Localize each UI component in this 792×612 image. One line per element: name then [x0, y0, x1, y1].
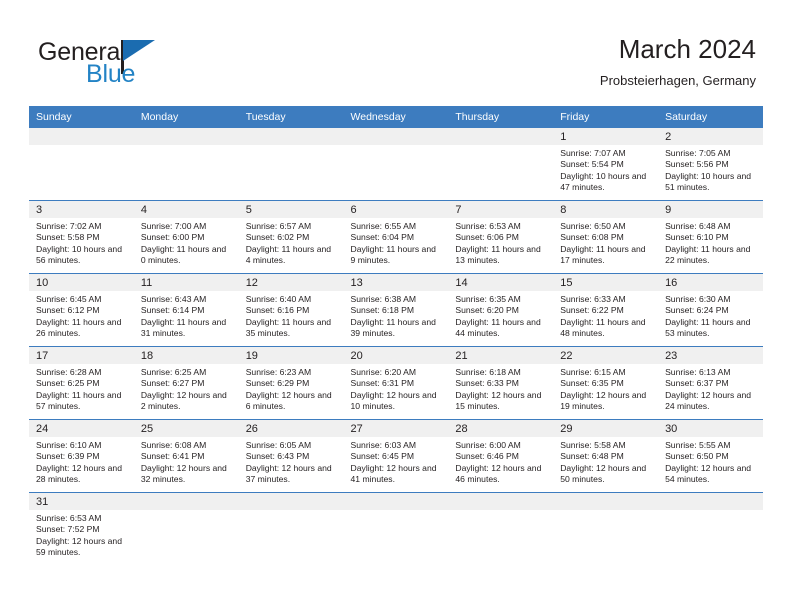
calendar-empty-cell	[134, 493, 239, 566]
daylight-text: Daylight: 11 hours and 39 minutes.	[351, 317, 443, 340]
calendar-day-cell[interactable]: 30Sunrise: 5:55 AMSunset: 6:50 PMDayligh…	[658, 420, 763, 493]
daylight-text: Daylight: 10 hours and 56 minutes.	[36, 244, 128, 267]
calendar-week-row: 1Sunrise: 7:07 AMSunset: 5:54 PMDaylight…	[29, 128, 763, 201]
day-number: 18	[134, 347, 239, 364]
calendar-day-cell[interactable]: 8Sunrise: 6:50 AMSunset: 6:08 PMDaylight…	[553, 201, 658, 274]
day-details: Sunrise: 7:00 AMSunset: 6:00 PMDaylight:…	[134, 218, 239, 267]
calendar-day-cell[interactable]: 28Sunrise: 6:00 AMSunset: 6:46 PMDayligh…	[448, 420, 553, 493]
calendar-empty-cell	[553, 493, 658, 566]
calendar-day-cell[interactable]: 4Sunrise: 7:00 AMSunset: 6:00 PMDaylight…	[134, 201, 239, 274]
day-number	[239, 128, 344, 145]
daylight-text: Daylight: 11 hours and 13 minutes.	[455, 244, 547, 267]
day-cell-content	[344, 493, 449, 565]
calendar-week-row: 3Sunrise: 7:02 AMSunset: 5:58 PMDaylight…	[29, 201, 763, 274]
sunset-text: Sunset: 7:52 PM	[36, 524, 128, 535]
daylight-text: Daylight: 11 hours and 17 minutes.	[560, 244, 652, 267]
day-cell-content	[134, 493, 239, 565]
calendar-week-row: 10Sunrise: 6:45 AMSunset: 6:12 PMDayligh…	[29, 274, 763, 347]
day-number	[448, 493, 553, 510]
day-number	[344, 128, 449, 145]
sunrise-text: Sunrise: 6:23 AM	[246, 367, 338, 378]
day-cell-content: 11Sunrise: 6:43 AMSunset: 6:14 PMDayligh…	[134, 274, 239, 346]
day-details: Sunrise: 6:15 AMSunset: 6:35 PMDaylight:…	[553, 364, 658, 413]
daylight-text: Daylight: 11 hours and 48 minutes.	[560, 317, 652, 340]
sunset-text: Sunset: 6:33 PM	[455, 378, 547, 389]
day-number: 28	[448, 420, 553, 437]
day-details: Sunrise: 6:05 AMSunset: 6:43 PMDaylight:…	[239, 437, 344, 486]
day-cell-content: 1Sunrise: 7:07 AMSunset: 5:54 PMDaylight…	[553, 128, 658, 200]
calendar-week-row: 31Sunrise: 6:53 AMSunset: 7:52 PMDayligh…	[29, 493, 763, 566]
sunset-text: Sunset: 6:46 PM	[455, 451, 547, 462]
day-number	[134, 493, 239, 510]
day-number	[658, 493, 763, 510]
day-cell-content: 13Sunrise: 6:38 AMSunset: 6:18 PMDayligh…	[344, 274, 449, 346]
calendar-day-cell[interactable]: 22Sunrise: 6:15 AMSunset: 6:35 PMDayligh…	[553, 347, 658, 420]
sunrise-text: Sunrise: 6:45 AM	[36, 294, 128, 305]
day-details: Sunrise: 5:58 AMSunset: 6:48 PMDaylight:…	[553, 437, 658, 486]
day-cell-content: 28Sunrise: 6:00 AMSunset: 6:46 PMDayligh…	[448, 420, 553, 492]
calendar-empty-cell	[344, 493, 449, 566]
day-details: Sunrise: 6:23 AMSunset: 6:29 PMDaylight:…	[239, 364, 344, 413]
day-number	[553, 493, 658, 510]
calendar-empty-cell	[239, 493, 344, 566]
sunrise-text: Sunrise: 6:43 AM	[141, 294, 233, 305]
calendar-day-cell[interactable]: 23Sunrise: 6:13 AMSunset: 6:37 PMDayligh…	[658, 347, 763, 420]
day-cell-content: 23Sunrise: 6:13 AMSunset: 6:37 PMDayligh…	[658, 347, 763, 419]
sunrise-text: Sunrise: 5:55 AM	[665, 440, 757, 451]
day-cell-content: 2Sunrise: 7:05 AMSunset: 5:56 PMDaylight…	[658, 128, 763, 200]
daylight-text: Daylight: 12 hours and 50 minutes.	[560, 463, 652, 486]
daylight-text: Daylight: 11 hours and 0 minutes.	[141, 244, 233, 267]
sunrise-text: Sunrise: 7:02 AM	[36, 221, 128, 232]
sunset-text: Sunset: 5:54 PM	[560, 159, 652, 170]
page-header: General Blue March 2024 Probsteierhagen,…	[0, 0, 792, 103]
calendar-table: Sunday Monday Tuesday Wednesday Thursday…	[29, 106, 763, 565]
day-number	[134, 128, 239, 145]
day-cell-content: 31Sunrise: 6:53 AMSunset: 7:52 PMDayligh…	[29, 493, 134, 565]
day-details: Sunrise: 6:20 AMSunset: 6:31 PMDaylight:…	[344, 364, 449, 413]
sunrise-text: Sunrise: 6:50 AM	[560, 221, 652, 232]
day-number: 2	[658, 128, 763, 145]
sunset-text: Sunset: 6:04 PM	[351, 232, 443, 243]
day-details: Sunrise: 6:00 AMSunset: 6:46 PMDaylight:…	[448, 437, 553, 486]
day-details: Sunrise: 6:13 AMSunset: 6:37 PMDaylight:…	[658, 364, 763, 413]
calendar-empty-cell	[134, 128, 239, 201]
calendar-empty-cell	[448, 128, 553, 201]
day-cell-content: 22Sunrise: 6:15 AMSunset: 6:35 PMDayligh…	[553, 347, 658, 419]
daylight-text: Daylight: 12 hours and 32 minutes.	[141, 463, 233, 486]
day-number: 19	[239, 347, 344, 364]
day-details: Sunrise: 6:45 AMSunset: 6:12 PMDaylight:…	[29, 291, 134, 340]
day-cell-content: 26Sunrise: 6:05 AMSunset: 6:43 PMDayligh…	[239, 420, 344, 492]
sunset-text: Sunset: 6:37 PM	[665, 378, 757, 389]
day-details: Sunrise: 6:48 AMSunset: 6:10 PMDaylight:…	[658, 218, 763, 267]
day-details: Sunrise: 7:07 AMSunset: 5:54 PMDaylight:…	[553, 145, 658, 194]
day-number: 25	[134, 420, 239, 437]
column-header-friday: Friday	[553, 106, 658, 128]
sunrise-text: Sunrise: 6:35 AM	[455, 294, 547, 305]
day-number: 20	[344, 347, 449, 364]
day-number: 13	[344, 274, 449, 291]
day-number: 26	[239, 420, 344, 437]
day-details: Sunrise: 6:35 AMSunset: 6:20 PMDaylight:…	[448, 291, 553, 340]
sunrise-text: Sunrise: 6:55 AM	[351, 221, 443, 232]
sunrise-text: Sunrise: 6:25 AM	[141, 367, 233, 378]
sunset-text: Sunset: 6:00 PM	[141, 232, 233, 243]
sunset-text: Sunset: 6:41 PM	[141, 451, 233, 462]
column-header-sunday: Sunday	[29, 106, 134, 128]
sunset-text: Sunset: 6:12 PM	[36, 305, 128, 316]
day-cell-content	[448, 128, 553, 200]
daylight-text: Daylight: 12 hours and 37 minutes.	[246, 463, 338, 486]
sunrise-text: Sunrise: 6:38 AM	[351, 294, 443, 305]
day-number: 31	[29, 493, 134, 510]
sunrise-text: Sunrise: 6:20 AM	[351, 367, 443, 378]
sunset-text: Sunset: 6:45 PM	[351, 451, 443, 462]
logo-text-blue: Blue	[86, 60, 135, 89]
calendar-day-cell[interactable]: 14Sunrise: 6:35 AMSunset: 6:20 PMDayligh…	[448, 274, 553, 347]
daylight-text: Daylight: 11 hours and 53 minutes.	[665, 317, 757, 340]
day-cell-content	[29, 128, 134, 200]
sunrise-text: Sunrise: 7:07 AM	[560, 148, 652, 159]
day-cell-content: 16Sunrise: 6:30 AMSunset: 6:24 PMDayligh…	[658, 274, 763, 346]
daylight-text: Daylight: 12 hours and 46 minutes.	[455, 463, 547, 486]
day-details: Sunrise: 6:25 AMSunset: 6:27 PMDaylight:…	[134, 364, 239, 413]
daylight-text: Daylight: 12 hours and 6 minutes.	[246, 390, 338, 413]
daylight-text: Daylight: 11 hours and 44 minutes.	[455, 317, 547, 340]
day-number: 12	[239, 274, 344, 291]
calendar-header-row: Sunday Monday Tuesday Wednesday Thursday…	[29, 106, 763, 128]
daylight-text: Daylight: 11 hours and 35 minutes.	[246, 317, 338, 340]
sunrise-text: Sunrise: 6:30 AM	[665, 294, 757, 305]
day-details: Sunrise: 6:08 AMSunset: 6:41 PMDaylight:…	[134, 437, 239, 486]
day-details: Sunrise: 6:57 AMSunset: 6:02 PMDaylight:…	[239, 218, 344, 267]
sunrise-text: Sunrise: 6:03 AM	[351, 440, 443, 451]
day-cell-content: 15Sunrise: 6:33 AMSunset: 6:22 PMDayligh…	[553, 274, 658, 346]
daylight-text: Daylight: 12 hours and 28 minutes.	[36, 463, 128, 486]
logo-flag-icon	[123, 40, 155, 61]
calendar-day-cell[interactable]: 20Sunrise: 6:20 AMSunset: 6:31 PMDayligh…	[344, 347, 449, 420]
day-number: 23	[658, 347, 763, 364]
day-cell-content: 5Sunrise: 6:57 AMSunset: 6:02 PMDaylight…	[239, 201, 344, 273]
day-details: Sunrise: 6:43 AMSunset: 6:14 PMDaylight:…	[134, 291, 239, 340]
day-number: 7	[448, 201, 553, 218]
calendar-empty-cell	[29, 128, 134, 201]
calendar-empty-cell	[239, 128, 344, 201]
daylight-text: Daylight: 11 hours and 57 minutes.	[36, 390, 128, 413]
day-details: Sunrise: 6:53 AMSunset: 6:06 PMDaylight:…	[448, 218, 553, 267]
sunrise-text: Sunrise: 6:08 AM	[141, 440, 233, 451]
day-details: Sunrise: 6:50 AMSunset: 6:08 PMDaylight:…	[553, 218, 658, 267]
daylight-text: Daylight: 11 hours and 22 minutes.	[665, 244, 757, 267]
sunrise-text: Sunrise: 6:13 AM	[665, 367, 757, 378]
sunrise-text: Sunrise: 6:53 AM	[455, 221, 547, 232]
sunrise-text: Sunrise: 6:00 AM	[455, 440, 547, 451]
calendar-day-cell[interactable]: 7Sunrise: 6:53 AMSunset: 6:06 PMDaylight…	[448, 201, 553, 274]
sunrise-text: Sunrise: 6:57 AM	[246, 221, 338, 232]
day-cell-content: 25Sunrise: 6:08 AMSunset: 6:41 PMDayligh…	[134, 420, 239, 492]
day-number: 1	[553, 128, 658, 145]
day-number: 6	[344, 201, 449, 218]
day-cell-content: 8Sunrise: 6:50 AMSunset: 6:08 PMDaylight…	[553, 201, 658, 273]
day-details: Sunrise: 6:30 AMSunset: 6:24 PMDaylight:…	[658, 291, 763, 340]
day-cell-content: 18Sunrise: 6:25 AMSunset: 6:27 PMDayligh…	[134, 347, 239, 419]
day-cell-content: 4Sunrise: 7:00 AMSunset: 6:00 PMDaylight…	[134, 201, 239, 273]
day-details: Sunrise: 6:03 AMSunset: 6:45 PMDaylight:…	[344, 437, 449, 486]
sunset-text: Sunset: 6:48 PM	[560, 451, 652, 462]
sunrise-text: Sunrise: 7:05 AM	[665, 148, 757, 159]
column-header-saturday: Saturday	[658, 106, 763, 128]
calendar-day-cell[interactable]: 27Sunrise: 6:03 AMSunset: 6:45 PMDayligh…	[344, 420, 449, 493]
day-details: Sunrise: 6:10 AMSunset: 6:39 PMDaylight:…	[29, 437, 134, 486]
daylight-text: Daylight: 12 hours and 2 minutes.	[141, 390, 233, 413]
sunset-text: Sunset: 6:24 PM	[665, 305, 757, 316]
day-details: Sunrise: 7:02 AMSunset: 5:58 PMDaylight:…	[29, 218, 134, 267]
calendar-empty-cell	[448, 493, 553, 566]
day-details: Sunrise: 5:55 AMSunset: 6:50 PMDaylight:…	[658, 437, 763, 486]
day-number: 16	[658, 274, 763, 291]
day-cell-content: 29Sunrise: 5:58 AMSunset: 6:48 PMDayligh…	[553, 420, 658, 492]
daylight-text: Daylight: 12 hours and 41 minutes.	[351, 463, 443, 486]
day-number: 8	[553, 201, 658, 218]
daylight-text: Daylight: 12 hours and 54 minutes.	[665, 463, 757, 486]
sunset-text: Sunset: 6:16 PM	[246, 305, 338, 316]
sunset-text: Sunset: 6:27 PM	[141, 378, 233, 389]
sunset-text: Sunset: 6:14 PM	[141, 305, 233, 316]
sunset-text: Sunset: 6:06 PM	[455, 232, 547, 243]
sunset-text: Sunset: 6:25 PM	[36, 378, 128, 389]
column-header-thursday: Thursday	[448, 106, 553, 128]
day-number: 10	[29, 274, 134, 291]
day-cell-content: 21Sunrise: 6:18 AMSunset: 6:33 PMDayligh…	[448, 347, 553, 419]
day-cell-content: 30Sunrise: 5:55 AMSunset: 6:50 PMDayligh…	[658, 420, 763, 492]
day-number: 5	[239, 201, 344, 218]
daylight-text: Daylight: 11 hours and 31 minutes.	[141, 317, 233, 340]
calendar-week-row: 17Sunrise: 6:28 AMSunset: 6:25 PMDayligh…	[29, 347, 763, 420]
day-number: 14	[448, 274, 553, 291]
daylight-text: Daylight: 12 hours and 24 minutes.	[665, 390, 757, 413]
sunset-text: Sunset: 6:10 PM	[665, 232, 757, 243]
calendar-day-cell[interactable]: 15Sunrise: 6:33 AMSunset: 6:22 PMDayligh…	[553, 274, 658, 347]
day-number: 21	[448, 347, 553, 364]
day-cell-content	[553, 493, 658, 565]
day-number	[29, 128, 134, 145]
sunset-text: Sunset: 6:43 PM	[246, 451, 338, 462]
day-number: 15	[553, 274, 658, 291]
calendar-day-cell[interactable]: 9Sunrise: 6:48 AMSunset: 6:10 PMDaylight…	[658, 201, 763, 274]
day-details: Sunrise: 6:18 AMSunset: 6:33 PMDaylight:…	[448, 364, 553, 413]
sunset-text: Sunset: 6:02 PM	[246, 232, 338, 243]
sunset-text: Sunset: 5:56 PM	[665, 159, 757, 170]
calendar-day-cell[interactable]: 29Sunrise: 5:58 AMSunset: 6:48 PMDayligh…	[553, 420, 658, 493]
sunrise-text: Sunrise: 6:15 AM	[560, 367, 652, 378]
sunset-text: Sunset: 6:50 PM	[665, 451, 757, 462]
sunset-text: Sunset: 6:18 PM	[351, 305, 443, 316]
sunrise-text: Sunrise: 6:40 AM	[246, 294, 338, 305]
sunrise-text: Sunrise: 6:53 AM	[36, 513, 128, 524]
day-cell-content: 19Sunrise: 6:23 AMSunset: 6:29 PMDayligh…	[239, 347, 344, 419]
day-cell-content: 9Sunrise: 6:48 AMSunset: 6:10 PMDaylight…	[658, 201, 763, 273]
day-cell-content: 20Sunrise: 6:20 AMSunset: 6:31 PMDayligh…	[344, 347, 449, 419]
day-cell-content: 3Sunrise: 7:02 AMSunset: 5:58 PMDaylight…	[29, 201, 134, 273]
day-cell-content: 17Sunrise: 6:28 AMSunset: 6:25 PMDayligh…	[29, 347, 134, 419]
calendar-week-row: 24Sunrise: 6:10 AMSunset: 6:39 PMDayligh…	[29, 420, 763, 493]
calendar-day-cell[interactable]: 25Sunrise: 6:08 AMSunset: 6:41 PMDayligh…	[134, 420, 239, 493]
day-number: 22	[553, 347, 658, 364]
sunrise-text: Sunrise: 7:00 AM	[141, 221, 233, 232]
day-number: 29	[553, 420, 658, 437]
calendar-day-cell[interactable]: 13Sunrise: 6:38 AMSunset: 6:18 PMDayligh…	[344, 274, 449, 347]
calendar-day-cell[interactable]: 17Sunrise: 6:28 AMSunset: 6:25 PMDayligh…	[29, 347, 134, 420]
day-number: 11	[134, 274, 239, 291]
sunrise-text: Sunrise: 5:58 AM	[560, 440, 652, 451]
day-cell-content	[239, 128, 344, 200]
general-blue-logo[interactable]: General Blue	[38, 38, 228, 90]
calendar-page: General Blue March 2024 Probsteierhagen,…	[0, 0, 792, 612]
sunrise-text: Sunrise: 6:18 AM	[455, 367, 547, 378]
calendar-day-cell[interactable]: 6Sunrise: 6:55 AMSunset: 6:04 PMDaylight…	[344, 201, 449, 274]
column-header-wednesday: Wednesday	[344, 106, 449, 128]
daylight-text: Daylight: 10 hours and 51 minutes.	[665, 171, 757, 194]
daylight-text: Daylight: 12 hours and 10 minutes.	[351, 390, 443, 413]
day-details: Sunrise: 6:38 AMSunset: 6:18 PMDaylight:…	[344, 291, 449, 340]
day-details: Sunrise: 6:40 AMSunset: 6:16 PMDaylight:…	[239, 291, 344, 340]
calendar-day-cell[interactable]: 5Sunrise: 6:57 AMSunset: 6:02 PMDaylight…	[239, 201, 344, 274]
day-cell-content	[344, 128, 449, 200]
calendar-body: 1Sunrise: 7:07 AMSunset: 5:54 PMDaylight…	[29, 128, 763, 565]
daylight-text: Daylight: 12 hours and 59 minutes.	[36, 536, 128, 559]
sunset-text: Sunset: 6:29 PM	[246, 378, 338, 389]
sunset-text: Sunset: 6:39 PM	[36, 451, 128, 462]
day-cell-content: 14Sunrise: 6:35 AMSunset: 6:20 PMDayligh…	[448, 274, 553, 346]
day-cell-content	[134, 128, 239, 200]
day-number: 27	[344, 420, 449, 437]
day-details: Sunrise: 6:28 AMSunset: 6:25 PMDaylight:…	[29, 364, 134, 413]
sunrise-text: Sunrise: 6:33 AM	[560, 294, 652, 305]
day-number: 4	[134, 201, 239, 218]
day-number: 9	[658, 201, 763, 218]
daylight-text: Daylight: 10 hours and 47 minutes.	[560, 171, 652, 194]
calendar-day-cell[interactable]: 19Sunrise: 6:23 AMSunset: 6:29 PMDayligh…	[239, 347, 344, 420]
sunrise-text: Sunrise: 6:10 AM	[36, 440, 128, 451]
day-details: Sunrise: 7:05 AMSunset: 5:56 PMDaylight:…	[658, 145, 763, 194]
calendar-day-cell[interactable]: 26Sunrise: 6:05 AMSunset: 6:43 PMDayligh…	[239, 420, 344, 493]
sunset-text: Sunset: 6:31 PM	[351, 378, 443, 389]
daylight-text: Daylight: 11 hours and 26 minutes.	[36, 317, 128, 340]
day-cell-content: 7Sunrise: 6:53 AMSunset: 6:06 PMDaylight…	[448, 201, 553, 273]
daylight-text: Daylight: 12 hours and 19 minutes.	[560, 390, 652, 413]
calendar-empty-cell	[658, 493, 763, 566]
day-number	[344, 493, 449, 510]
sunrise-text: Sunrise: 6:48 AM	[665, 221, 757, 232]
sunset-text: Sunset: 5:58 PM	[36, 232, 128, 243]
sunset-text: Sunset: 6:08 PM	[560, 232, 652, 243]
calendar-day-cell[interactable]: 24Sunrise: 6:10 AMSunset: 6:39 PMDayligh…	[29, 420, 134, 493]
calendar-day-cell[interactable]: 18Sunrise: 6:25 AMSunset: 6:27 PMDayligh…	[134, 347, 239, 420]
column-header-monday: Monday	[134, 106, 239, 128]
day-details: Sunrise: 6:55 AMSunset: 6:04 PMDaylight:…	[344, 218, 449, 267]
day-number: 30	[658, 420, 763, 437]
day-number: 3	[29, 201, 134, 218]
day-cell-content	[448, 493, 553, 565]
day-cell-content: 27Sunrise: 6:03 AMSunset: 6:45 PMDayligh…	[344, 420, 449, 492]
day-number: 24	[29, 420, 134, 437]
day-cell-content	[658, 493, 763, 565]
day-cell-content	[239, 493, 344, 565]
column-header-tuesday: Tuesday	[239, 106, 344, 128]
calendar-day-cell[interactable]: 31Sunrise: 6:53 AMSunset: 7:52 PMDayligh…	[29, 493, 134, 566]
daylight-text: Daylight: 11 hours and 9 minutes.	[351, 244, 443, 267]
page-subtitle: Probsteierhagen, Germany	[600, 72, 756, 90]
calendar-day-cell[interactable]: 3Sunrise: 7:02 AMSunset: 5:58 PMDaylight…	[29, 201, 134, 274]
day-number	[448, 128, 553, 145]
day-cell-content: 10Sunrise: 6:45 AMSunset: 6:12 PMDayligh…	[29, 274, 134, 346]
calendar-day-cell[interactable]: 2Sunrise: 7:05 AMSunset: 5:56 PMDaylight…	[658, 128, 763, 201]
day-cell-content: 6Sunrise: 6:55 AMSunset: 6:04 PMDaylight…	[344, 201, 449, 273]
page-title: March 2024	[600, 34, 756, 64]
sunset-text: Sunset: 6:22 PM	[560, 305, 652, 316]
calendar-empty-cell	[344, 128, 449, 201]
sunrise-text: Sunrise: 6:28 AM	[36, 367, 128, 378]
day-details: Sunrise: 6:33 AMSunset: 6:22 PMDaylight:…	[553, 291, 658, 340]
day-cell-content: 24Sunrise: 6:10 AMSunset: 6:39 PMDayligh…	[29, 420, 134, 492]
calendar-day-cell[interactable]: 11Sunrise: 6:43 AMSunset: 6:14 PMDayligh…	[134, 274, 239, 347]
day-number	[239, 493, 344, 510]
sunset-text: Sunset: 6:20 PM	[455, 305, 547, 316]
calendar-day-cell[interactable]: 16Sunrise: 6:30 AMSunset: 6:24 PMDayligh…	[658, 274, 763, 347]
day-number: 17	[29, 347, 134, 364]
daylight-text: Daylight: 12 hours and 15 minutes.	[455, 390, 547, 413]
calendar-day-cell[interactable]: 1Sunrise: 7:07 AMSunset: 5:54 PMDaylight…	[553, 128, 658, 201]
calendar-day-cell[interactable]: 21Sunrise: 6:18 AMSunset: 6:33 PMDayligh…	[448, 347, 553, 420]
sunset-text: Sunset: 6:35 PM	[560, 378, 652, 389]
sunrise-text: Sunrise: 6:05 AM	[246, 440, 338, 451]
day-details: Sunrise: 6:53 AMSunset: 7:52 PMDaylight:…	[29, 510, 134, 559]
calendar-day-cell[interactable]: 10Sunrise: 6:45 AMSunset: 6:12 PMDayligh…	[29, 274, 134, 347]
daylight-text: Daylight: 11 hours and 4 minutes.	[246, 244, 338, 267]
day-cell-content: 12Sunrise: 6:40 AMSunset: 6:16 PMDayligh…	[239, 274, 344, 346]
calendar-day-cell[interactable]: 12Sunrise: 6:40 AMSunset: 6:16 PMDayligh…	[239, 274, 344, 347]
title-block: March 2024 Probsteierhagen, Germany	[600, 34, 756, 90]
